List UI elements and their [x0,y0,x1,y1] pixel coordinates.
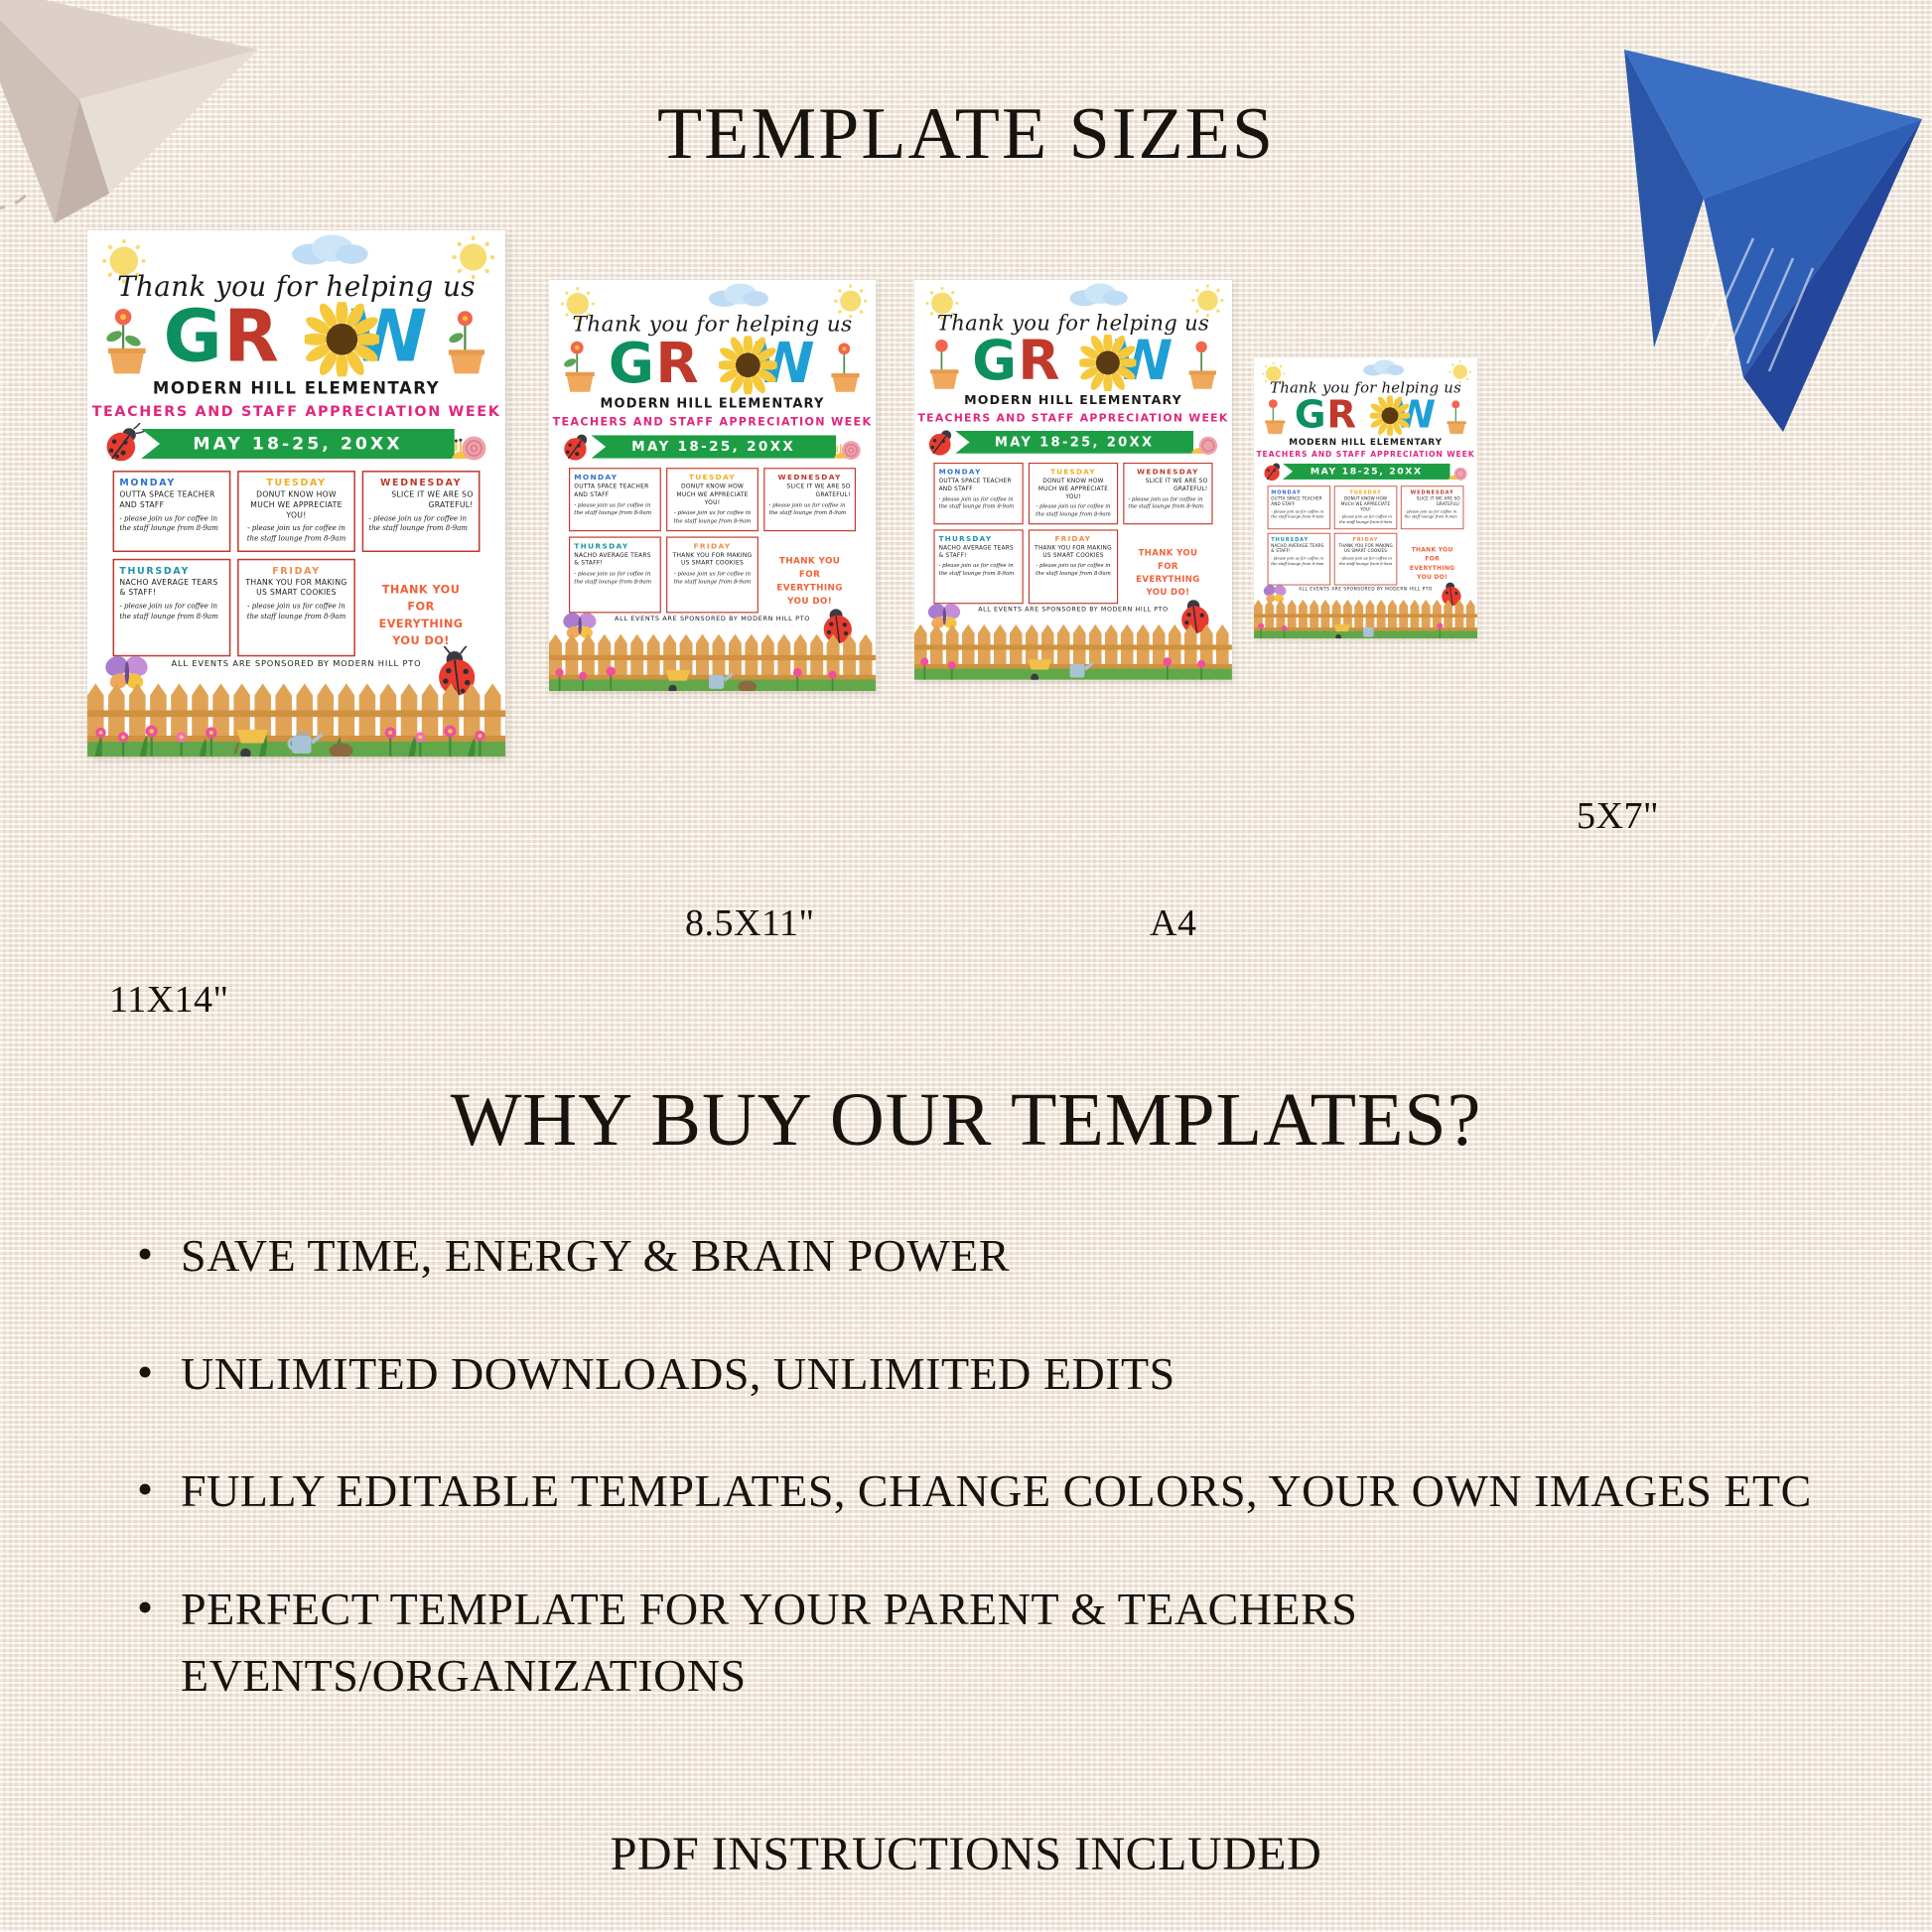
day-title-friday: THANK YOU FOR MAKING US SMART COOKIES [244,578,348,599]
grow-letter-g: G [163,295,223,378]
benefit-item: PERFECT TEMPLATE FOR YOUR PARENT & TEACH… [129,1577,1817,1709]
day-card-monday: MONDAY OUTTA SPACE TEACHER AND STAFF - p… [1268,485,1330,529]
day-title-wednesday: SLICE IT WE ARE SO GRATEFUL! [368,490,473,511]
snail-icon [1187,432,1224,458]
day-name-monday: MONDAY [119,477,223,487]
flyer-date-banner: MAY 18-25, 20XX [1283,464,1450,480]
size-label-85x11: 8.5X11" [685,901,815,945]
flyer-subtitle: TEACHERS AND STAFF APPRECIATION WEEK [87,403,505,420]
day-note-monday: - please join us for coffee inthe staff … [119,513,223,533]
fence-garden-decoration [1254,594,1477,638]
day-name-tuesday: TUESDAY [244,477,348,487]
flyer-days-grid: MONDAY OUTTA SPACE TEACHER AND STAFF - p… [933,463,1212,604]
cloud-icon [1067,282,1130,306]
flower-pot-right-icon [1444,399,1470,436]
benefit-item: SAVE TIME, ENERGY & BRAIN POWER [129,1223,1817,1290]
size-label-11x14: 11X14" [109,978,229,1022]
day-note-wednesday: - please join us for coffee inthe staff … [368,513,473,533]
day-card-friday: FRIDAY THANK YOU FOR MAKING US SMART COO… [666,536,759,613]
sunflower-icon [1370,396,1410,436]
day-card-wednesday: WEDNESDAY SLICE IT WE ARE SO GRATEFUL! -… [362,471,481,552]
flyer-date-banner: MAY 18-25, 20XX [955,431,1193,454]
flower-pot-left-icon [1261,397,1290,436]
flyer-preview-5x7[interactable]: Thank you for helping us GRW MODERN HILL… [1254,357,1810,1057]
day-card-wednesday: WEDNESDAY SLICE IT WE ARE SO GRATEFUL! -… [1123,463,1212,524]
day-card-monday: MONDAY OUTTA SPACE TEACHER AND STAFF - p… [113,471,231,552]
size-label-a4: A4 [1150,901,1196,945]
why-buy-title: WHY BUY OUR TEMPLATES? [0,1077,1932,1164]
thank-you-line-2: EVERYTHING YOU DO! [379,617,464,647]
snail-icon [447,430,494,465]
flyer-school-name: MODERN HILL ELEMENTARY [549,397,876,412]
day-card-thursday: THURSDAY NACHO AVERAGE TEARS & STAFF! - … [933,529,1023,604]
day-card-friday: FRIDAY THANK YOU FOR MAKING US SMART COO… [1029,529,1118,604]
sunflower-icon [305,302,379,376]
day-title-thursday: NACHO AVERAGE TEARS & STAFF! [119,578,223,599]
fence-garden-decoration [549,625,876,691]
snail-icon [1447,465,1472,483]
sunflower-icon [1079,335,1136,391]
day-card-thursday: THURSDAY NACHO AVERAGE TEARS & STAFF! - … [113,558,231,655]
cloud-icon [707,282,771,307]
flyer-script-line: Thank you for helping us [87,271,505,303]
flyer-school-name: MODERN HILL ELEMENTARY [87,379,505,398]
thank-you-line-1: THANK YOU FOR [382,583,461,614]
day-title-monday: OUTTA SPACE TEACHER AND STAFF [119,490,223,511]
pdf-instructions-note: PDF INSTRUCTIONS INCLUDED [0,1827,1932,1881]
cloud-icon [1361,359,1405,376]
thank-you-cell: THANK YOU FOREVERYTHING YOU DO! [362,558,481,655]
flower-pot-left-icon [560,339,602,394]
day-card-friday: FRIDAY THANK YOU FOR MAKING US SMART COO… [237,558,355,655]
benefit-item: FULLY EDITABLE TEMPLATES, CHANGE COLORS,… [129,1458,1817,1525]
ladybug-top-icon [561,431,595,465]
flower-pot-right-icon [443,308,492,376]
day-card-tuesday: TUESDAY DONUT KNOW HOW MUCH WE APPRECIAT… [666,468,759,531]
flyer-script-line: Thank you for helping us [1254,379,1477,396]
day-note-thursday: - please join us for coffee inthe staff … [119,602,223,621]
flyer-school-name: MODERN HILL ELEMENTARY [914,393,1232,407]
flyer-script-line: Thank you for helping us [914,311,1232,336]
day-name-wednesday: WEDNESDAY [368,477,473,487]
flyer-days-grid: MONDAY OUTTA SPACE TEACHER AND STAFF - p… [113,471,481,656]
day-card-tuesday: TUESDAY DONUT KNOW HOW MUCH WE APPRECIAT… [1334,485,1397,529]
day-card-thursday: THURSDAY NACHO AVERAGE TEARS & STAFF! - … [569,536,661,613]
sunflower-icon [719,336,777,394]
day-card-tuesday: TUESDAY DONUT KNOW HOW MUCH WE APPRECIAT… [1029,463,1118,524]
ladybug-top-icon [925,426,958,459]
flyer-days-grid: MONDAY OUTTA SPACE TEACHER AND STAFF - p… [569,468,856,613]
benefit-item: UNLIMITED DOWNLOADS, UNLIMITED EDITS [129,1341,1817,1408]
day-card-wednesday: WEDNESDAY SLICE IT WE ARE SO GRATEFUL! -… [1401,485,1463,529]
flower-pot-left-icon [924,337,965,391]
day-card-friday: FRIDAY THANK YOU FOR MAKING US SMART COO… [1334,533,1397,586]
snail-icon [830,436,868,463]
thank-you-cell: THANK YOU FOREVERYTHING YOU DO! [1123,529,1212,604]
day-note-tuesday: - please join us for coffee inthe staff … [244,524,348,544]
fence-garden-decoration [914,617,1232,680]
thank-you-cell: THANK YOU FOREVERYTHING YOU DO! [763,536,856,613]
flyer-date-banner: MAY 18-25, 20XX [591,435,836,459]
flyer-script-line: Thank you for helping us [549,312,876,337]
day-note-friday: - please join us for coffee inthe staff … [244,602,348,621]
flower-pot-left-icon [101,305,155,376]
flyer-subtitle: TEACHERS AND STAFF APPRECIATION WEEK [1254,450,1477,459]
day-card-thursday: THURSDAY NACHO AVERAGE TEARS & STAFF! - … [1268,533,1330,586]
flyer-days-grid: MONDAY OUTTA SPACE TEACHER AND STAFF - p… [1268,485,1464,585]
day-name-friday: FRIDAY [244,564,348,575]
flyer-school-name: MODERN HILL ELEMENTARY [1254,437,1477,447]
fence-garden-decoration [87,673,505,757]
cloud-icon [289,233,371,265]
size-label-5x7: 5X7" [1577,794,1659,838]
flyer-subtitle: TEACHERS AND STAFF APPRECIATION WEEK [914,412,1232,425]
flower-pot-right-icon [1184,339,1222,391]
day-card-monday: MONDAY OUTTA SPACE TEACHER AND STAFF - p… [569,468,661,531]
ladybug-top-icon [102,423,146,467]
benefits-list: SAVE TIME, ENERGY & BRAIN POWER UNLIMITE… [129,1223,1817,1760]
day-card-wednesday: WEDNESDAY SLICE IT WE ARE SO GRATEFUL! -… [763,468,856,531]
day-card-monday: MONDAY OUTTA SPACE TEACHER AND STAFF - p… [933,463,1023,524]
ladybug-top-icon [1262,461,1285,483]
flower-pot-right-icon [827,341,866,394]
page-title: TEMPLATE SIZES [0,92,1932,177]
day-card-tuesday: TUESDAY DONUT KNOW HOW MUCH WE APPRECIAT… [237,471,355,552]
day-name-thursday: THURSDAY [119,564,223,575]
flyer-date-banner: MAY 18-25, 20XX [141,429,455,459]
flyer-subtitle: TEACHERS AND STAFF APPRECIATION WEEK [549,415,876,428]
grow-letter-r: R [223,295,280,378]
day-title-tuesday: DONUT KNOW HOW MUCH WE APPRECIATE YOU! [244,490,348,521]
thank-you-cell: THANK YOU FOREVERYTHING YOU DO! [1401,533,1463,586]
